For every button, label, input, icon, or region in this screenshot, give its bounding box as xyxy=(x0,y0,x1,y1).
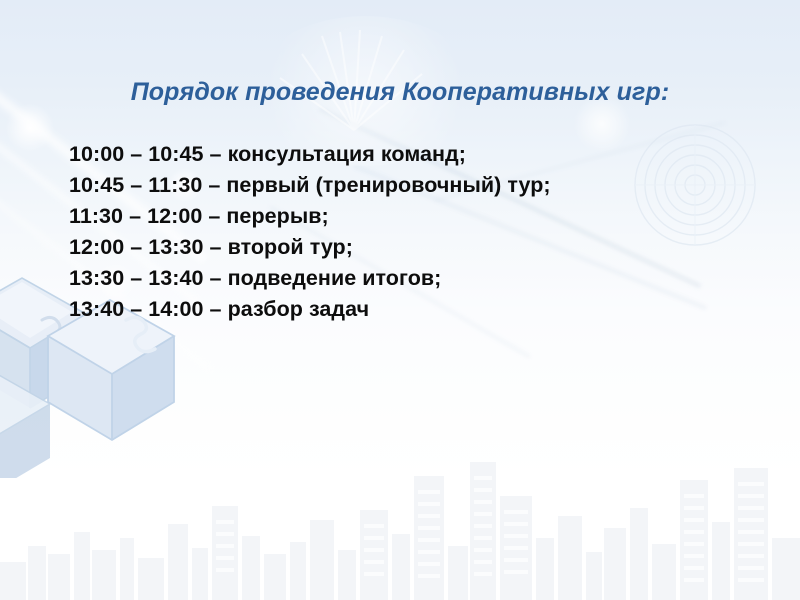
agenda-list: 10:00 – 10:45 – консультация команд; 10:… xyxy=(69,139,551,325)
list-item: 11:30 – 12:00 – перерыв; xyxy=(69,201,551,232)
list-item: 13:40 – 14:00 – разбор задач xyxy=(69,294,551,325)
page-title: Порядок проведения Кооперативных игр: xyxy=(0,78,800,107)
list-item: 10:45 – 11:30 – первый (тренировочный) т… xyxy=(69,170,551,201)
slide-content: Порядок проведения Кооперативных игр: 10… xyxy=(0,0,800,600)
presentation-slide: Порядок проведения Кооперативных игр: 10… xyxy=(0,0,800,600)
list-item: 10:00 – 10:45 – консультация команд; xyxy=(69,139,551,170)
list-item: 13:30 – 13:40 – подведение итогов; xyxy=(69,263,551,294)
list-item: 12:00 – 13:30 – второй тур; xyxy=(69,232,551,263)
